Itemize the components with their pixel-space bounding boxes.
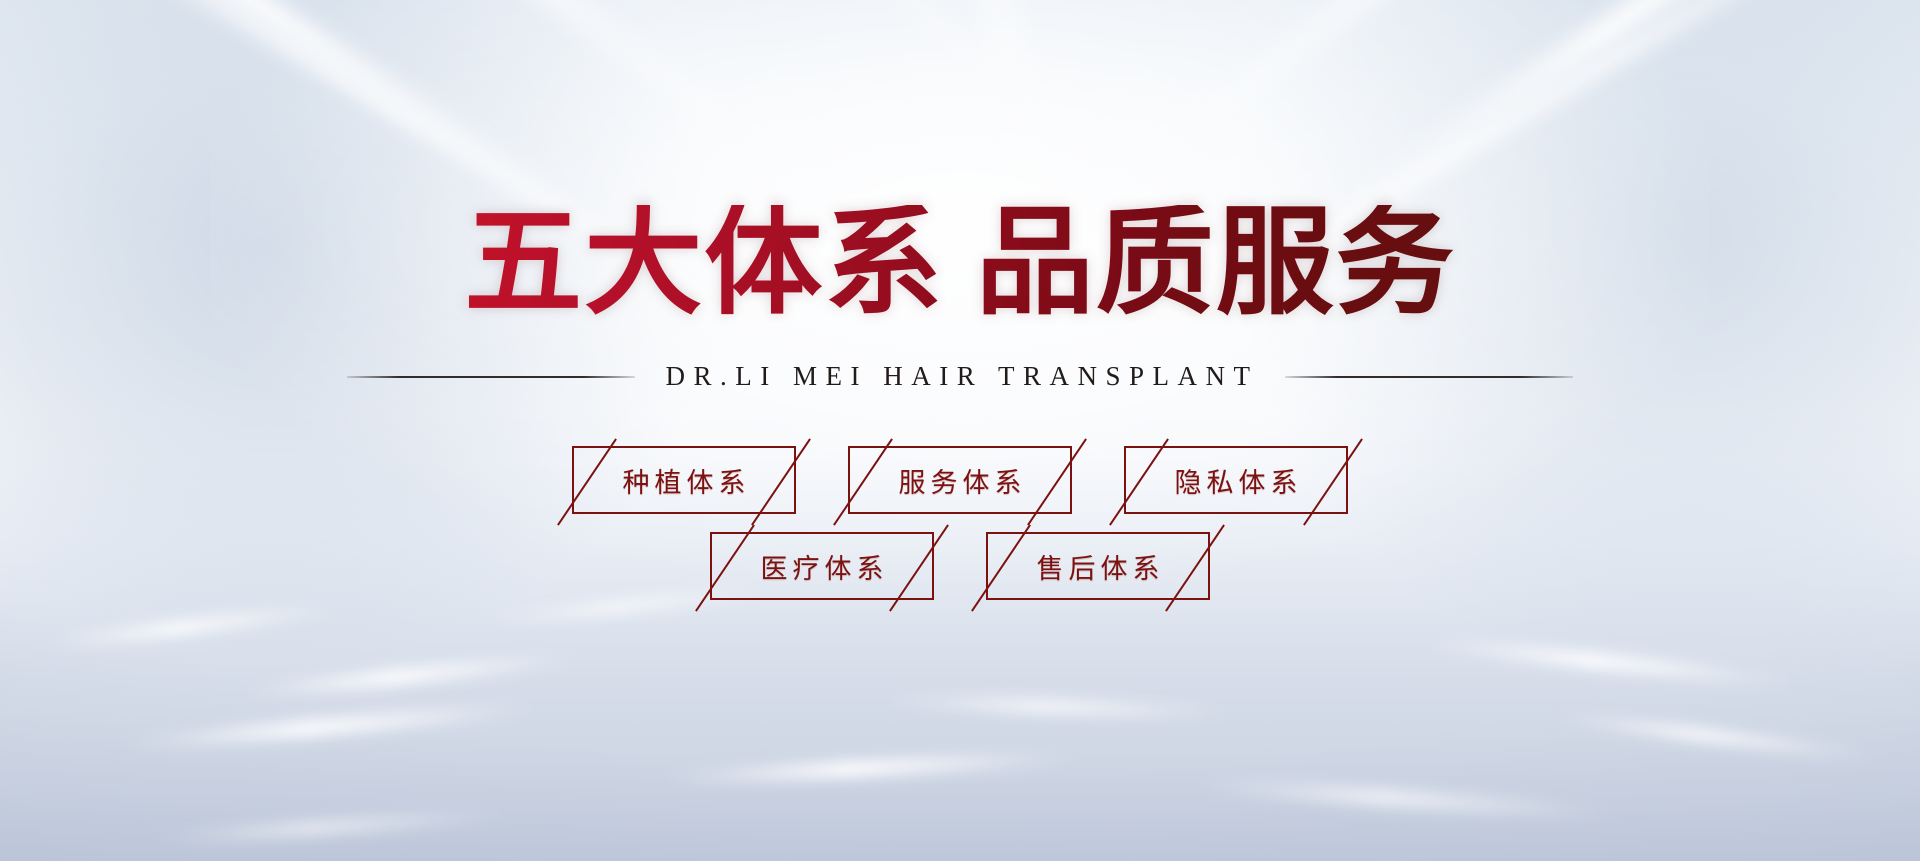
- tag-row-1: 种植体系 服务体系 隐私体系: [572, 446, 1348, 514]
- tag-box-privacy[interactable]: 隐私体系: [1124, 446, 1348, 514]
- banner-content: 五大体系 品质服务 五大体系 品质服务 DR.LI MEI HAIR TRANS…: [0, 0, 1920, 861]
- tag-box-planting[interactable]: 种植体系: [572, 446, 796, 514]
- slash-left-icon: [833, 438, 893, 525]
- page-title: 五大体系 品质服务: [464, 205, 1456, 323]
- slash-right-icon: [751, 438, 811, 525]
- slash-right-icon: [1027, 438, 1087, 525]
- hero-banner: 五大体系 品质服务 五大体系 品质服务 DR.LI MEI HAIR TRANS…: [0, 0, 1920, 861]
- tag-label: 服务体系: [894, 461, 1027, 500]
- tag-label: 种植体系: [618, 461, 751, 500]
- tag-group: 种植体系 服务体系 隐私体系 医疗体系: [572, 446, 1348, 600]
- slash-left-icon: [971, 524, 1031, 611]
- slash-left-icon: [695, 524, 755, 611]
- slash-right-icon: [889, 524, 949, 611]
- tag-label: 医疗体系: [756, 547, 889, 586]
- tag-box-medical[interactable]: 医疗体系: [710, 532, 934, 600]
- subtitle-rule-left: [347, 376, 635, 378]
- subtitle-row: DR.LI MEI HAIR TRANSPLANT: [347, 361, 1572, 392]
- tag-label: 隐私体系: [1170, 461, 1303, 500]
- tag-row-2: 医疗体系 售后体系: [710, 532, 1210, 600]
- tag-box-aftersales[interactable]: 售后体系: [986, 532, 1210, 600]
- subtitle-rule-right: [1285, 376, 1573, 378]
- slash-right-icon: [1165, 524, 1225, 611]
- slash-left-icon: [1109, 438, 1169, 525]
- tag-box-service[interactable]: 服务体系: [848, 446, 1072, 514]
- slash-left-icon: [557, 438, 617, 525]
- tag-label: 售后体系: [1032, 547, 1165, 586]
- page-subtitle: DR.LI MEI HAIR TRANSPLANT: [661, 361, 1258, 392]
- slash-right-icon: [1303, 438, 1363, 525]
